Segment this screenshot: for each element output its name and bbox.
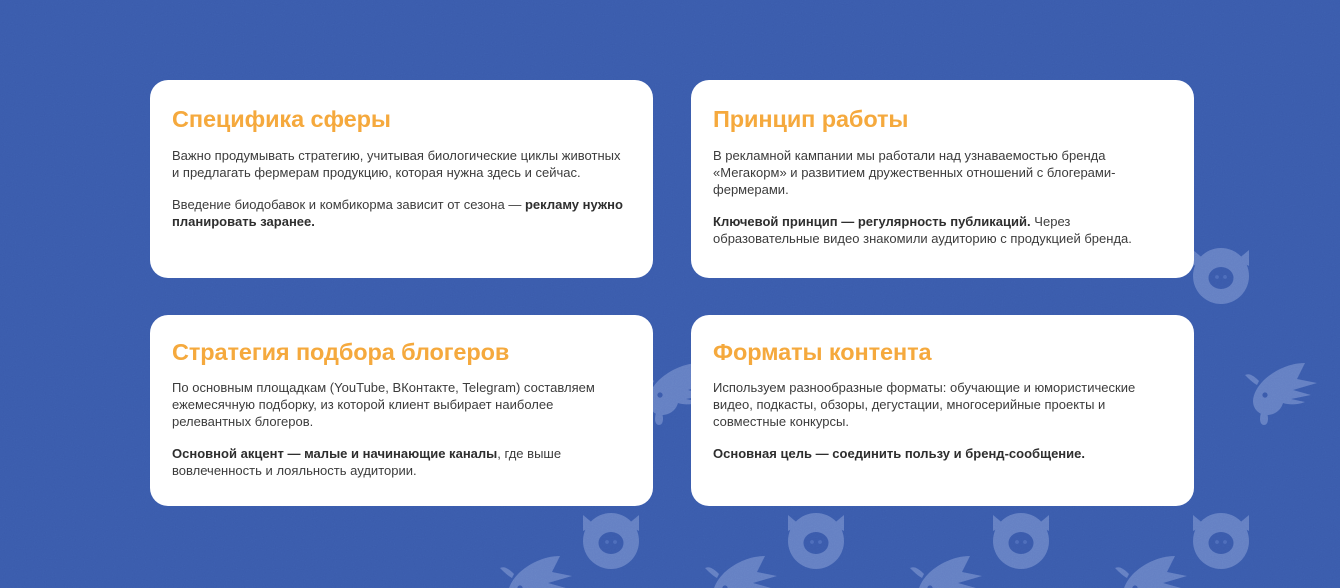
emphasis-text: Основной акцент — малые и начинающие кан… <box>172 446 497 461</box>
card-title: Принцип работы <box>713 106 1164 132</box>
card-body: В рекламной кампании мы работали над узн… <box>713 147 1164 247</box>
info-cards-grid: Специфика сферы Важно продумывать страте… <box>150 80 1194 506</box>
card-paragraph: Основной акцент — малые и начинающие кан… <box>172 445 623 479</box>
card-paragraph: Основная цель — соединить пользу и бренд… <box>713 445 1164 462</box>
card-body: По основным площадкам (YouTube, ВКонтакт… <box>172 379 623 479</box>
card-body: Важно продумывать стратегию, учитывая би… <box>172 147 623 230</box>
card-specifics-of-the-field: Специфика сферы Важно продумывать страте… <box>150 80 653 278</box>
card-paragraph: Важно продумывать стратегию, учитывая би… <box>172 147 623 181</box>
card-paragraph: Используем разнообразные форматы: обучаю… <box>713 379 1164 430</box>
card-title: Стратегия подбора блогеров <box>172 339 623 365</box>
emphasis-text: Основная цель — соединить пользу и бренд… <box>713 446 1085 461</box>
card-paragraph: Ключевой принцип — регулярность публикац… <box>713 213 1164 247</box>
card-body: Используем разнообразные форматы: обучаю… <box>713 379 1164 462</box>
card-paragraph: По основным площадкам (YouTube, ВКонтакт… <box>172 379 623 430</box>
body-text: Введение биодобавок и комбикорма зависит… <box>172 197 525 212</box>
body-text: По основным площадкам (YouTube, ВКонтакт… <box>172 380 595 429</box>
card-principle-of-work: Принцип работы В рекламной кампании мы р… <box>691 80 1194 278</box>
card-paragraph: В рекламной кампании мы работали над узн… <box>713 147 1164 198</box>
card-title: Специфика сферы <box>172 106 623 132</box>
body-text: Используем разнообразные форматы: обучаю… <box>713 380 1135 429</box>
body-text: В рекламной кампании мы работали над узн… <box>713 148 1116 197</box>
card-title: Форматы контента <box>713 339 1164 365</box>
body-text: Важно продумывать стратегию, учитывая би… <box>172 148 621 180</box>
card-paragraph: Введение биодобавок и комбикорма зависит… <box>172 196 623 230</box>
card-content-formats: Форматы контента Используем разнообразны… <box>691 315 1194 506</box>
emphasis-text: Ключевой принцип — регулярность публикац… <box>713 214 1031 229</box>
card-blogger-selection-strategy: Стратегия подбора блогеров По основным п… <box>150 315 653 506</box>
